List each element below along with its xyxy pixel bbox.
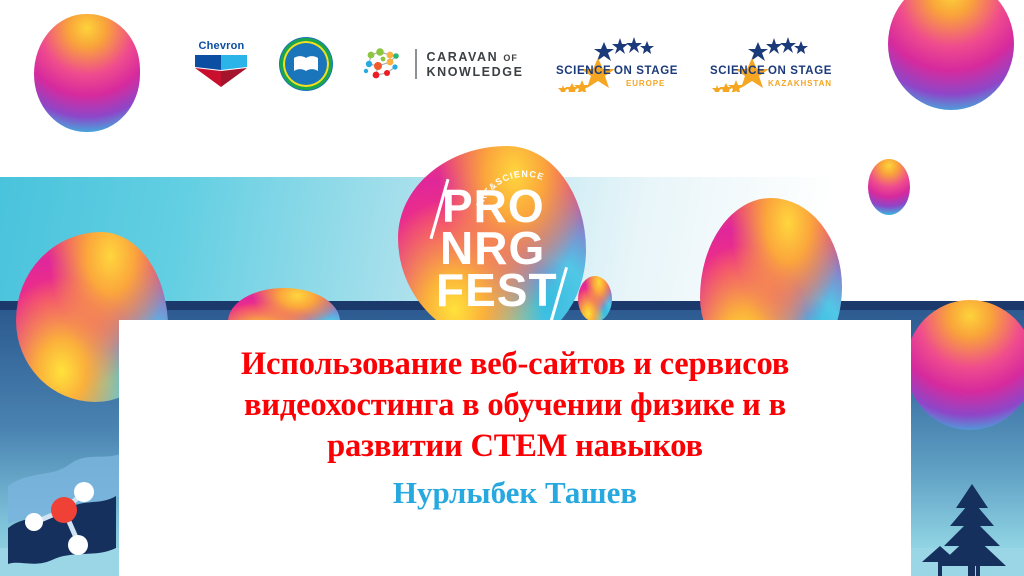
title-card: Использование веб-сайтов и сервисов виде… xyxy=(119,320,911,576)
pine-tree-icon xyxy=(930,478,1014,576)
page-title: Использование веб-сайтов и сервисов виде… xyxy=(145,344,885,467)
festival-logo: ART&SCIENCE PRO NRG FEST xyxy=(398,146,586,346)
gradient-blob-small-right xyxy=(868,159,910,215)
title-line-3: развитии СТЕМ навыков xyxy=(145,426,885,467)
caravan-of-knowledge-logo: CARAVAN OF KNOWLEDGE xyxy=(362,46,523,82)
title-line-1: Использование веб-сайтов и сервисов xyxy=(145,344,885,385)
title-line-2: видеохостинга в обучении физике и в xyxy=(145,385,885,426)
open-book-icon xyxy=(293,55,319,73)
on-stage-label: ON STAGE xyxy=(768,65,832,77)
on-stage-label: ON STAGE xyxy=(614,65,678,77)
brain-network-icon xyxy=(362,46,406,82)
knowledge-label: KNOWLEDGE xyxy=(426,65,523,79)
kazakhstan-label: KAZAKHSTAN xyxy=(768,79,832,88)
sponsor-logo-bar: Chevron xyxy=(0,24,1024,104)
chevron-logo: Chevron xyxy=(192,40,250,89)
molecule-icon xyxy=(8,452,128,568)
caravan-of-knowledge-wordmark: CARAVAN OF KNOWLEDGE xyxy=(426,50,523,79)
science-label: SCIENCE xyxy=(710,65,765,77)
science-on-stage-kazakhstan-logo: SCIENCE ON STAGE KAZAKHSTAN xyxy=(708,36,832,92)
kazakhstan-emblem-logo xyxy=(280,38,332,90)
of-label: OF xyxy=(503,53,518,63)
science-label: SCIENCE xyxy=(556,65,611,77)
festival-logo-line3: FEST xyxy=(436,268,558,312)
gradient-blob-bottom-right xyxy=(906,300,1024,430)
chevron-mark-icon xyxy=(193,53,249,89)
author-name: Нурлыбек Ташев xyxy=(145,473,885,513)
presentation-slide: ART&SCIENCE PRO NRG FEST Chevron xyxy=(0,0,1024,576)
chevron-wordmark: Chevron xyxy=(198,40,244,52)
science-on-stage-europe-logo: SCIENCE ON STAGE EUROPE xyxy=(554,36,678,92)
europe-label: EUROPE xyxy=(626,79,665,88)
logo-divider xyxy=(415,49,417,79)
caravan-label: CARAVAN xyxy=(426,50,498,64)
emblem-circle-icon xyxy=(280,38,332,90)
